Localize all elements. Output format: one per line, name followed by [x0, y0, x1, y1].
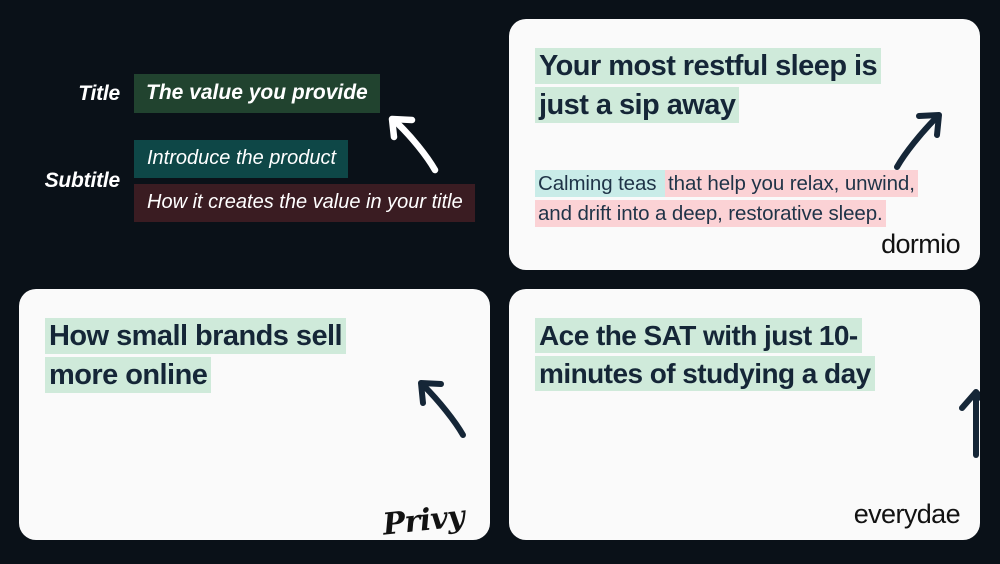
legend-subtitle-example-2: How it creates the value in your title — [134, 184, 475, 222]
card-dormio[interactable]: Your most restful sleep is just a sip aw… — [509, 19, 980, 270]
arrow-up-left-icon — [415, 377, 469, 441]
legend-title-example: The value you provide — [134, 74, 380, 113]
legend-title-row: Title The value you provide — [60, 74, 380, 113]
poster-canvas: Title The value you provide Subtitle Int… — [0, 0, 1000, 564]
arrow-up-right-icon — [891, 109, 945, 173]
card-headline: How small brands sell more online — [45, 317, 468, 396]
headline-line-2: more online — [45, 357, 211, 393]
card-logo: dormio — [881, 231, 960, 258]
card-privy[interactable]: How small brands sell more online Privy’… — [19, 289, 490, 540]
card-logo: everydae — [854, 501, 960, 528]
legend-title-label: Title — [60, 82, 120, 106]
headline-line-1: How small brands sell — [45, 318, 346, 354]
card-everydae[interactable]: Ace the SAT with just 10- minutes of stu… — [509, 289, 980, 540]
headline-line-1: Your most restful sleep is — [535, 48, 881, 84]
card-body: Calming teas that help you relax, unwind… — [535, 169, 940, 229]
legend-panel: Title The value you provide Subtitle Int… — [0, 0, 500, 282]
card-headline: Ace the SAT with just 10- minutes of stu… — [535, 317, 958, 393]
legend-subtitle-example-1: Introduce the product — [134, 140, 348, 178]
headline-line-1: Ace the SAT with just 10- — [535, 318, 862, 353]
body-segment-cyan: Calming teas — [535, 170, 665, 197]
headline-line-2: minutes of studying a day — [535, 356, 875, 391]
card-logo: Privy — [382, 502, 466, 540]
arrow-up-left-icon — [383, 108, 443, 174]
arrow-up-icon — [949, 387, 980, 459]
legend-subtitle-label: Subtitle — [16, 169, 120, 193]
headline-line-2: just a sip away — [535, 87, 739, 123]
